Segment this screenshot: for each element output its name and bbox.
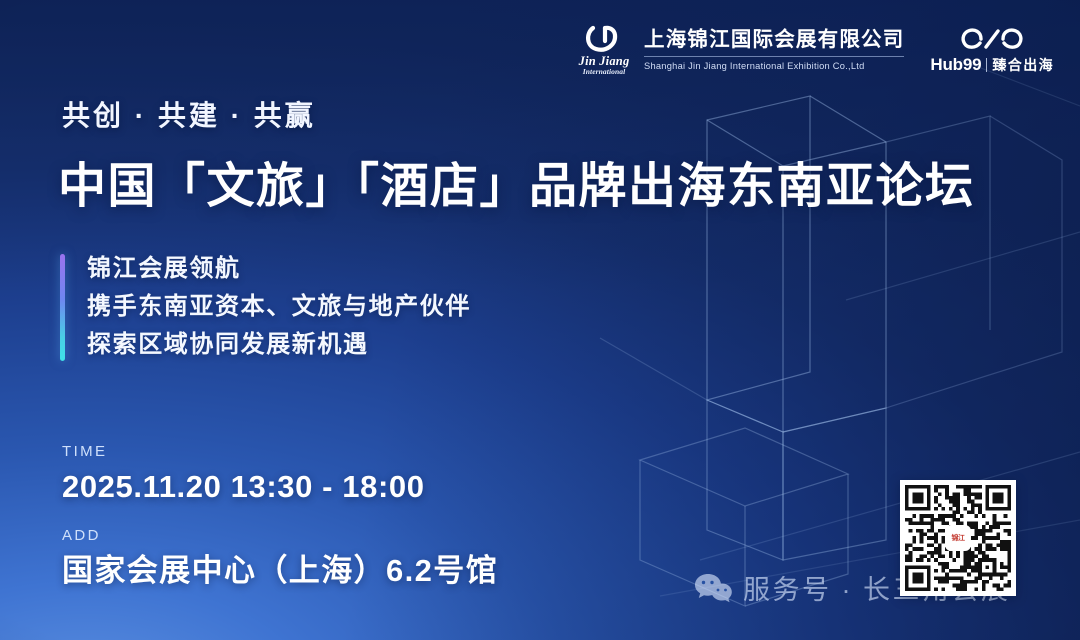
accent-bar	[60, 254, 65, 361]
event-details: TIME 2025.11.20 13:30 - 18:00 ADD 国家会展中心…	[62, 443, 498, 589]
hub99-divider	[986, 58, 987, 72]
time-label: TIME	[62, 443, 498, 461]
jinjiang-divider	[644, 56, 904, 57]
subtitle-line: 锦江会展领航	[87, 256, 471, 283]
jinjiang-mark-subtext: International	[583, 68, 626, 76]
subtitle-block: 锦江会展领航 携手东南亚资本、文旅与地产伙伴 探索区域协同发展新机遇	[60, 254, 471, 361]
time-value: 2025.11.20 13:30 - 18:00	[62, 468, 498, 505]
hub99-infinity-icon	[959, 26, 1025, 52]
page-title: 中国「文旅」「酒店」品牌出海东南亚论坛	[58, 146, 975, 216]
hub99-name-block: Hub99 臻合出海	[930, 55, 1054, 75]
subtitle-line: 携手东南亚资本、文旅与地产伙伴	[87, 294, 471, 321]
address-value: 国家会展中心（上海）6.2号馆	[62, 552, 498, 589]
hub99-logo: Hub99 臻合出海	[930, 26, 1054, 75]
hub99-name-cn: 臻合出海	[992, 55, 1054, 75]
hub99-name: Hub99	[930, 55, 981, 75]
jinjiang-name-block: 上海锦江国际会展有限公司 Shanghai Jin Jiang Internat…	[644, 29, 904, 71]
address-group: ADD 国家会展中心（上海）6.2号馆	[62, 527, 498, 589]
wechat-qr-code[interactable]: 锦江	[900, 480, 1016, 596]
sponsor-logo-row: Jin Jiang International 上海锦江国际会展有限公司 Sha…	[573, 24, 1054, 76]
jinjiang-swoosh-icon: Jin Jiang International	[573, 24, 635, 76]
eyebrow-tagline: 共创 · 共建 · 共赢	[62, 94, 316, 134]
poster-banner: Jin Jiang International 上海锦江国际会展有限公司 Sha…	[0, 0, 1080, 640]
address-label: ADD	[62, 527, 498, 545]
qr-center-logo: 锦江	[945, 525, 971, 551]
jinjiang-name-cn: 上海锦江国际会展有限公司	[644, 29, 904, 52]
jinjiang-name-en: Shanghai Jin Jiang International Exhibit…	[644, 61, 904, 71]
time-group: TIME 2025.11.20 13:30 - 18:00	[62, 443, 498, 505]
subtitle-lines: 锦江会展领航 携手东南亚资本、文旅与地产伙伴 探索区域协同发展新机遇	[87, 254, 471, 361]
subtitle-line: 探索区域协同发展新机遇	[87, 332, 471, 359]
wechat-bubbles-icon	[694, 572, 732, 604]
jinjiang-logo: Jin Jiang International 上海锦江国际会展有限公司 Sha…	[573, 24, 904, 76]
